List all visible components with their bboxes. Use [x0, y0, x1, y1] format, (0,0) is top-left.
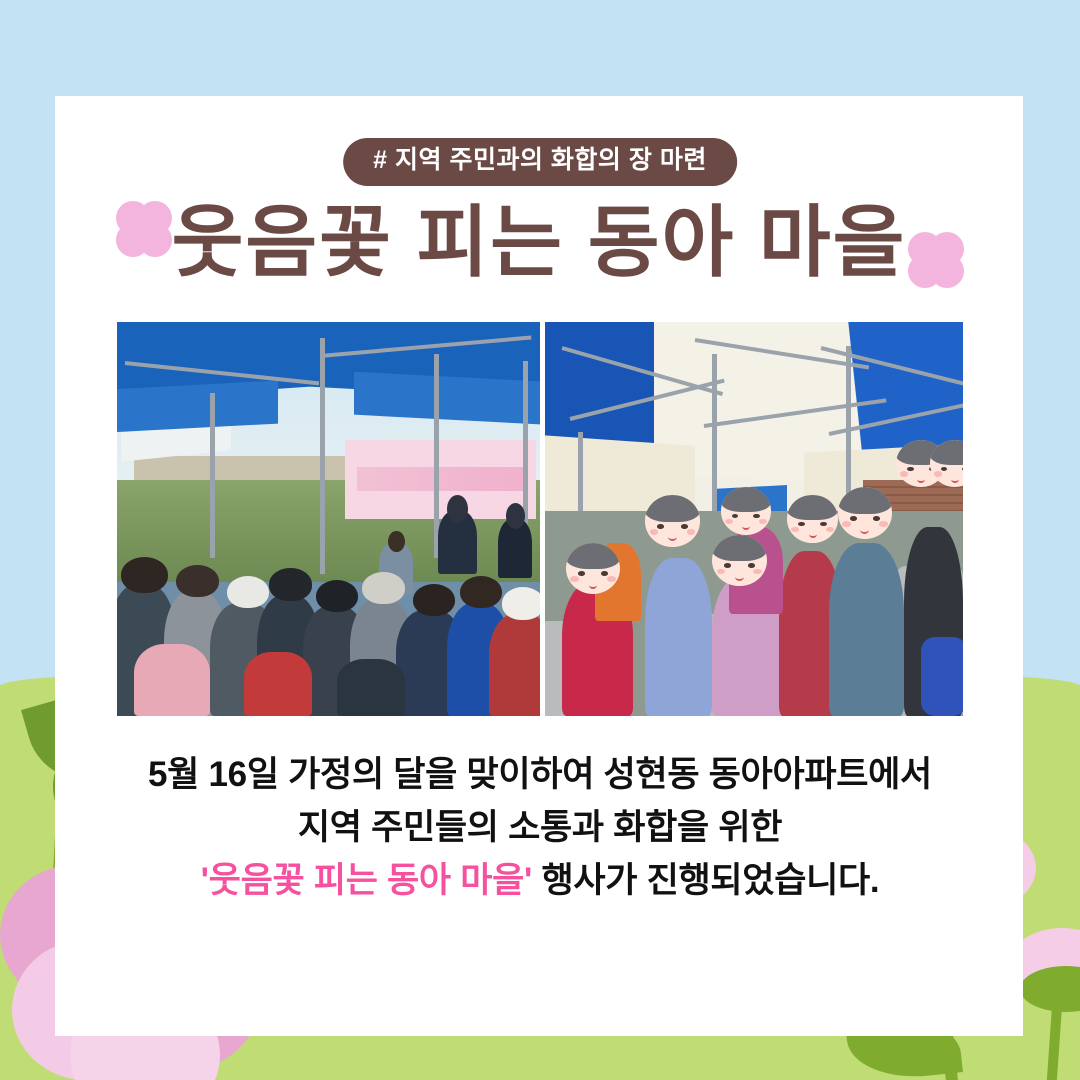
body-line-1: 5월 16일 가정의 달을 맞이하여 성현동 동아아파트에서 [0, 748, 1080, 801]
face-sticker [838, 487, 892, 538]
body-line-2: 지역 주민들의 소통과 화합을 위한 [0, 801, 1080, 854]
highlight-phrase: '웃음꽃 피는 동아 마을' [201, 861, 532, 900]
body-line-3: '웃음꽃 피는 동아 마을' 행사가 진행되었습니다. [0, 854, 1080, 907]
photo-right [545, 322, 963, 716]
face-sticker [721, 487, 771, 534]
poster-canvas: # 지역 주민과의 화합의 장 마련 웃음꽃 피는 동아 마을 [0, 0, 1080, 1080]
page-title: 웃음꽃 피는 동아 마을 [172, 202, 907, 284]
body-line-3-rest: 행사가 진행되었습니다. [532, 861, 879, 900]
face-sticker [645, 495, 699, 546]
face-sticker [787, 495, 837, 542]
photo-left [117, 322, 540, 716]
photo-strip [117, 322, 963, 716]
face-sticker [566, 543, 620, 594]
body-paragraph: 5월 16일 가정의 달을 맞이하여 성현동 동아아파트에서 지역 주민들의 소… [0, 748, 1080, 908]
face-sticker [712, 535, 766, 586]
hashtag-badge[interactable]: # 지역 주민과의 화합의 장 마련 [343, 138, 737, 186]
page-title-row: 웃음꽃 피는 동아 마을 [0, 198, 1080, 288]
flower-icon-left [116, 201, 172, 257]
flower-icon-right [908, 232, 964, 288]
